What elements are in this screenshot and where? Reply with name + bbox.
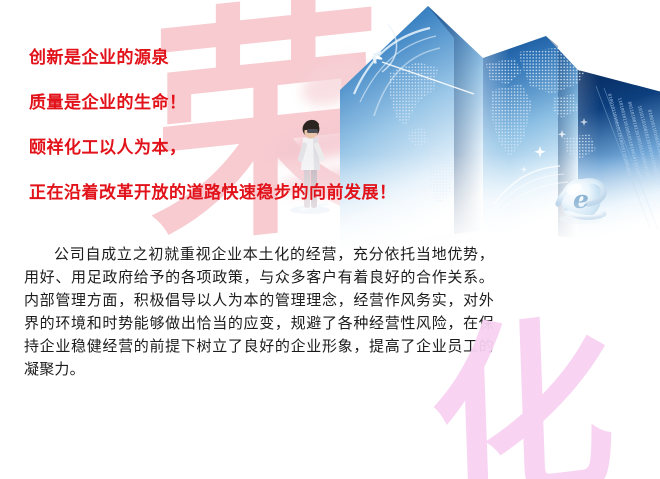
- banner-panel-middle: [483, 36, 578, 238]
- pink-brush-smudge: [359, 208, 480, 238]
- svg-text:010010110100101101001011010010: 01001011010010110100101101001011: [646, 109, 660, 193]
- headline-line-2: 质量是企业的生命！: [29, 95, 479, 112]
- binary-digit-stream: 01001011010010110100101101001011 1101001…: [606, 93, 660, 193]
- fiber-swoosh: [490, 166, 568, 220]
- headline-line-4: 正在沿着改革开放的道路快速稳步的向前发展！: [29, 185, 479, 202]
- internet-explorer-e-logo: e: [558, 179, 604, 224]
- svg-text:010010110100101101001011010010: 01001011010010110100101101001011: [606, 93, 632, 177]
- headline-line-1: 创新是企业的源泉: [29, 50, 479, 67]
- svg-text:e: e: [573, 185, 589, 214]
- company-description-paragraph: 公司自成立之初就重视企业本土化的经营，充分依托当地优势，用好、用足政府给予的各项…: [24, 243, 494, 381]
- headline-block: 创新是企业的源泉 质量是企业的生命！ 颐祥化工以人为本， 正在沿着改革开放的道路…: [29, 50, 479, 202]
- company-profile-page: 荣: [0, 0, 660, 479]
- svg-text:101011010010110100101101001011: 10101101001011010010110100101101: [636, 105, 660, 189]
- sparkle-stars: [521, 118, 588, 173]
- headline-line-3: 颐祥化工以人为本，: [29, 140, 479, 157]
- banner-panel-right: [578, 70, 660, 242]
- binary-stream-lines: [596, 86, 658, 230]
- svg-text:110100101101001011010010110100: 11010010110100101101001011010010: [616, 97, 642, 181]
- svg-text:001101001011010010110100101101: 00110100101101001011010010110100: [626, 101, 652, 185]
